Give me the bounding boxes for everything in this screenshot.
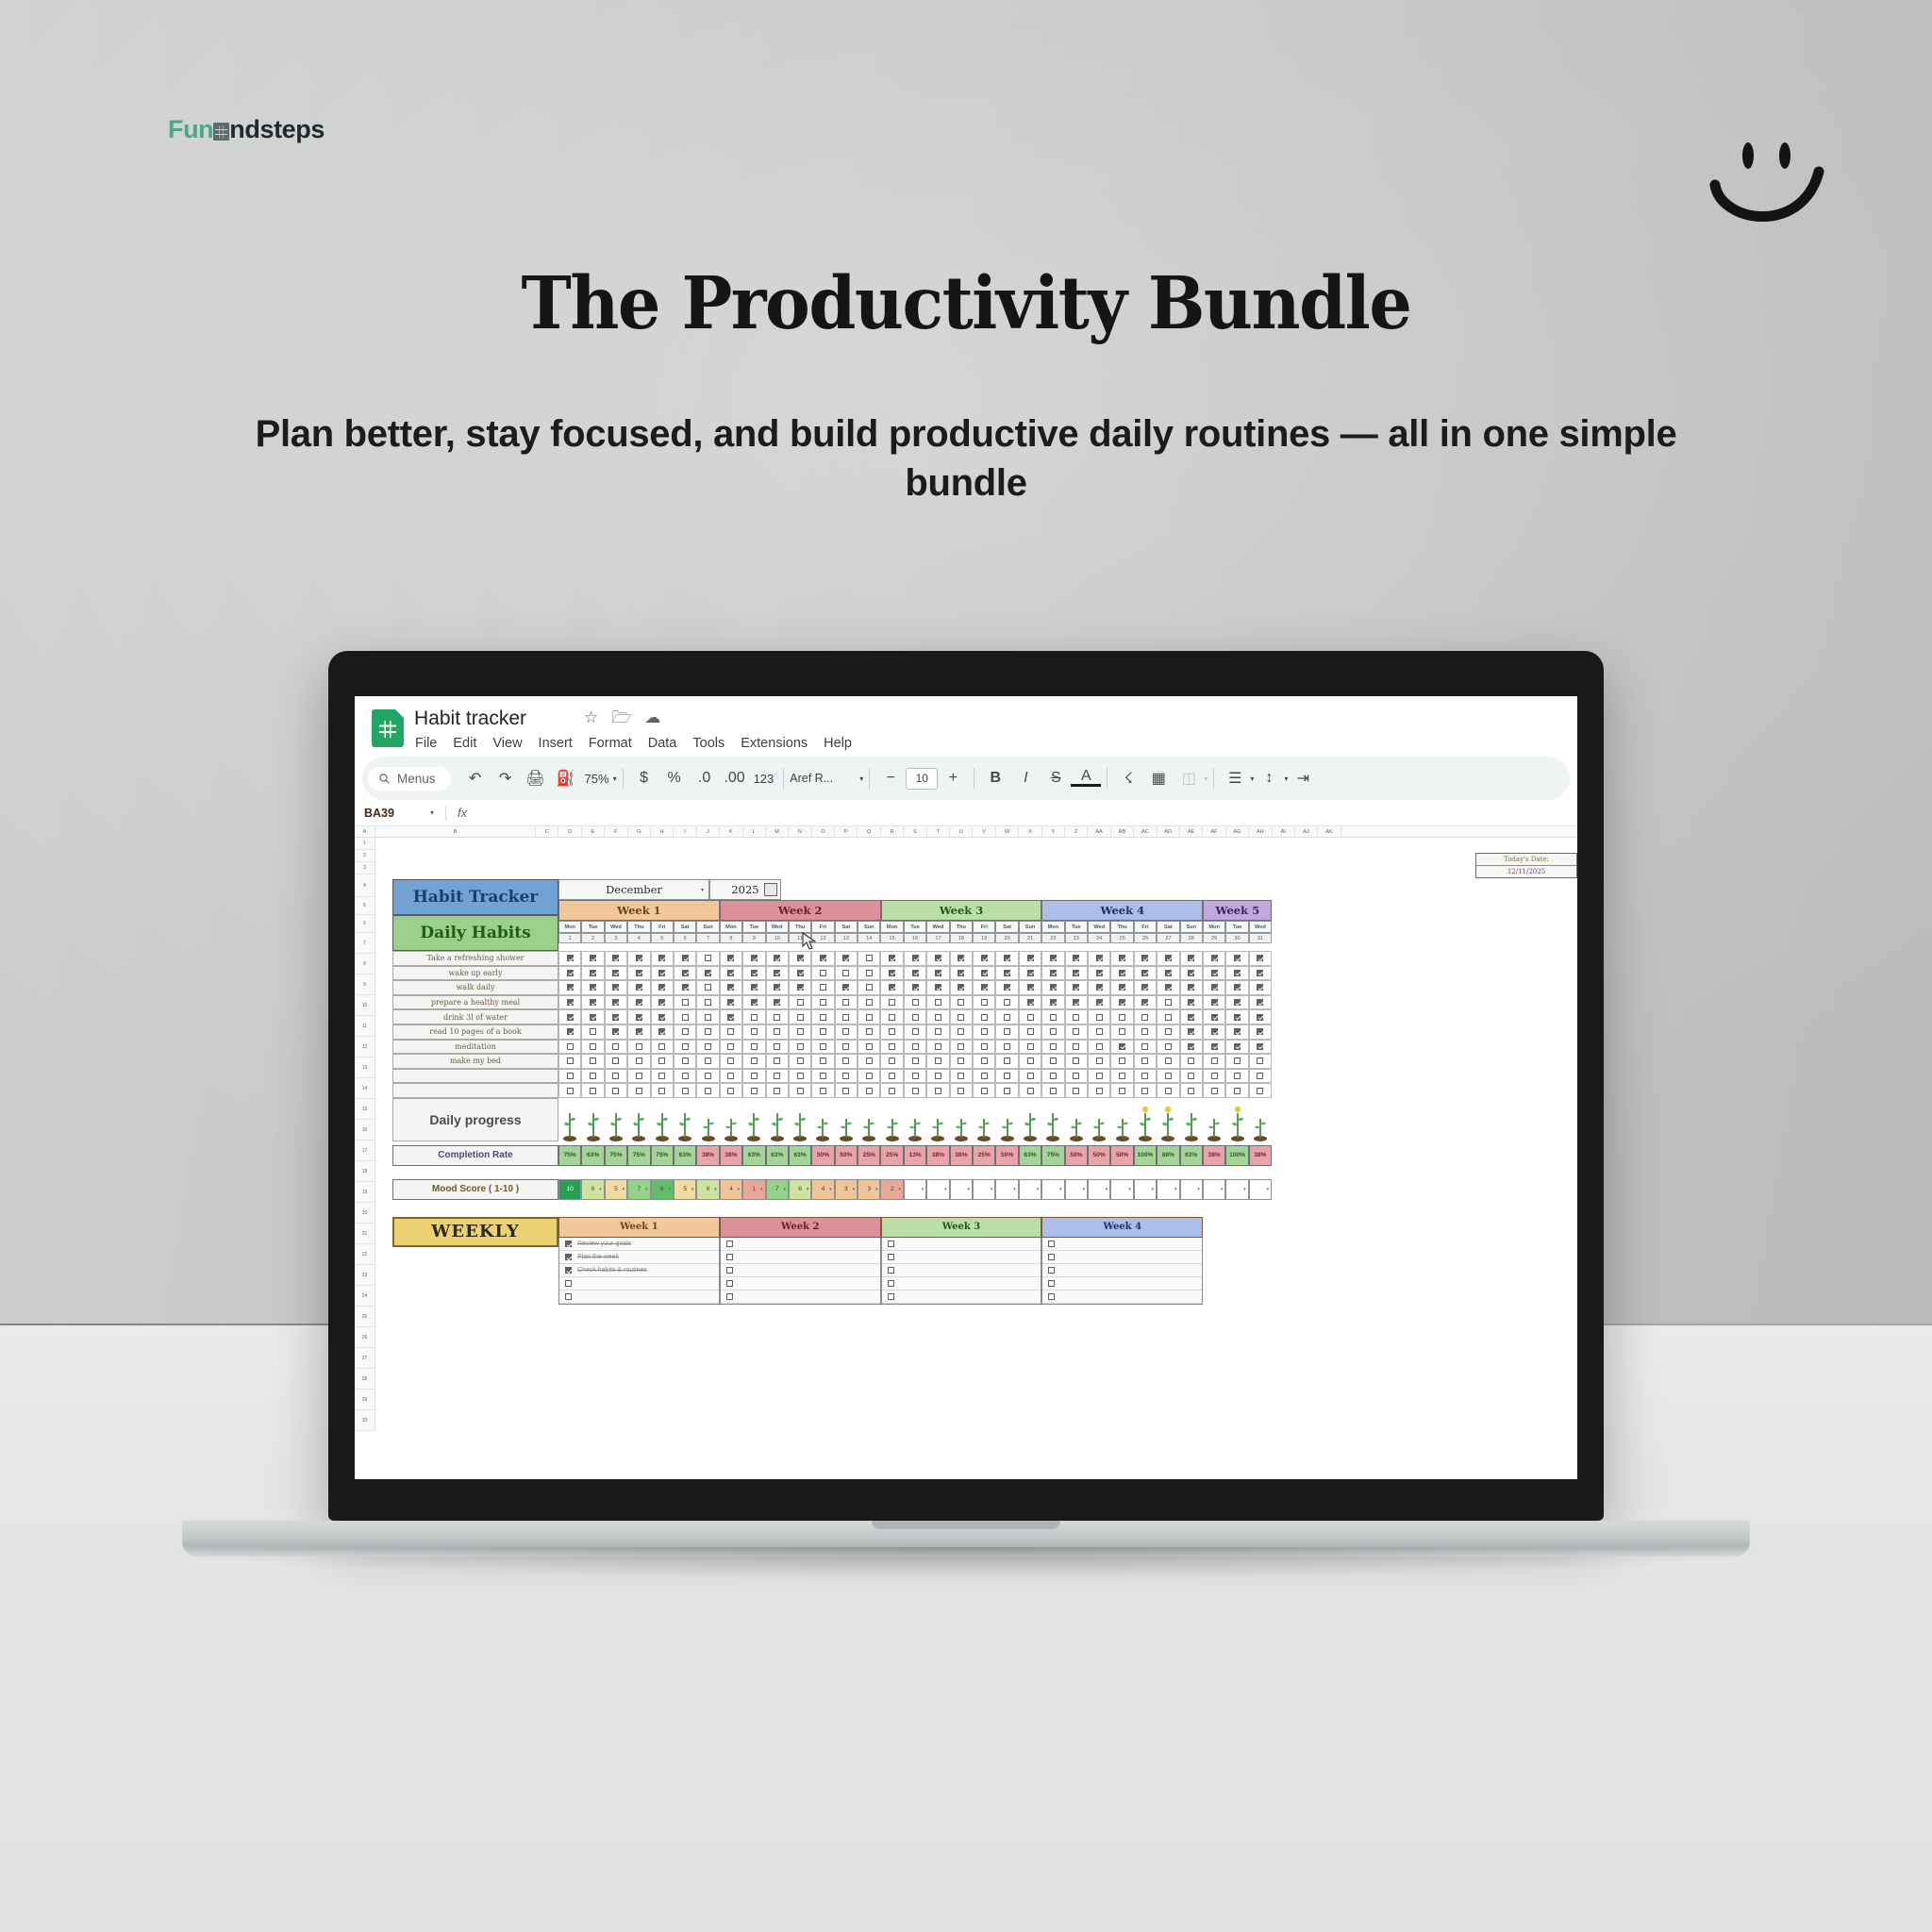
mood-chevron-down-icon[interactable]: ▾ (668, 1187, 671, 1192)
habit-check-cell[interactable] (904, 1024, 926, 1040)
habit-check-cell[interactable] (880, 1009, 903, 1024)
habit-check-cell[interactable] (1225, 966, 1248, 981)
habit-name[interactable] (392, 1069, 558, 1084)
bold-button[interactable]: B (980, 770, 1010, 787)
cell-reference-input[interactable]: BA39 (355, 807, 430, 820)
habit-check-cell[interactable] (880, 1069, 903, 1084)
habit-check-cell[interactable] (789, 1054, 811, 1069)
habit-check-cell[interactable] (605, 995, 627, 1010)
column-header[interactable]: AG (1226, 826, 1249, 837)
checkbox-icon[interactable] (1073, 984, 1079, 991)
currency-format-button[interactable]: $ (629, 770, 659, 787)
mood-score-cell[interactable]: ▾ (1134, 1179, 1157, 1200)
habit-check-cell[interactable] (1041, 1083, 1064, 1098)
mood-chevron-down-icon[interactable]: ▾ (1059, 1187, 1062, 1192)
checkbox-icon[interactable] (981, 999, 988, 1006)
zoom-level[interactable]: 75% (581, 772, 613, 786)
row-header[interactable]: 5 (355, 897, 375, 915)
checkbox-icon[interactable] (1257, 1088, 1263, 1094)
habit-check-cell[interactable] (696, 1083, 719, 1098)
checkbox-icon[interactable] (1188, 1028, 1194, 1035)
checkbox-icon[interactable] (842, 970, 849, 976)
increase-decimal-button[interactable]: .00 (720, 770, 750, 787)
checkbox-icon[interactable] (1004, 1073, 1010, 1079)
mood-chevron-down-icon[interactable]: ▾ (898, 1187, 901, 1192)
checkbox-icon[interactable] (981, 984, 988, 991)
checkbox-icon[interactable] (981, 1014, 988, 1021)
habit-check-cell[interactable] (674, 951, 696, 966)
habit-check-cell[interactable] (1180, 1054, 1203, 1069)
mood-chevron-down-icon[interactable]: ▾ (944, 1187, 947, 1192)
column-header[interactable]: AI (1273, 826, 1295, 837)
menu-format[interactable]: Format (589, 736, 632, 751)
checkbox-icon[interactable] (1211, 1028, 1218, 1035)
merge-chevron-down-icon[interactable]: ▾ (1204, 774, 1207, 783)
checkbox-icon[interactable] (1257, 970, 1263, 976)
checkbox-icon[interactable] (612, 1043, 619, 1050)
habit-check-cell[interactable] (1157, 980, 1179, 995)
checkbox-icon[interactable] (981, 1043, 988, 1050)
habit-check-cell[interactable] (973, 1024, 995, 1040)
habit-check-cell[interactable] (1088, 995, 1110, 1010)
habit-check-cell[interactable] (651, 1009, 674, 1024)
checkbox-icon[interactable] (981, 1073, 988, 1079)
mood-chevron-down-icon[interactable]: ▾ (576, 1187, 579, 1192)
habit-check-cell[interactable] (973, 1009, 995, 1024)
mood-chevron-down-icon[interactable]: ▾ (1243, 1187, 1246, 1192)
habit-check-cell[interactable] (995, 1083, 1018, 1098)
checkbox-icon[interactable] (612, 1058, 619, 1064)
habit-check-cell[interactable] (696, 1040, 719, 1055)
checkbox-icon[interactable] (1234, 984, 1241, 991)
checkbox-icon[interactable] (590, 1028, 596, 1035)
text-color-button[interactable]: A (1071, 770, 1101, 786)
checkbox-icon[interactable] (1119, 970, 1125, 976)
habit-check-cell[interactable] (558, 1054, 581, 1069)
row-header[interactable]: 24 (355, 1286, 375, 1307)
habit-check-cell[interactable] (1249, 1083, 1272, 1098)
habit-check-cell[interactable] (1249, 1024, 1272, 1040)
checkbox-icon[interactable] (658, 1088, 665, 1094)
habit-check-cell[interactable] (1157, 1040, 1179, 1055)
checkbox-icon[interactable] (658, 1058, 665, 1064)
row-header[interactable]: 13 (355, 1058, 375, 1078)
habit-check-cell[interactable] (926, 951, 949, 966)
checkbox-icon[interactable] (1119, 1028, 1125, 1035)
checkbox-icon[interactable] (751, 1058, 758, 1064)
habit-check-cell[interactable] (627, 1069, 650, 1084)
row-header[interactable]: 8 (355, 954, 375, 974)
mood-score-cell[interactable]: ▾ (1110, 1179, 1133, 1200)
mood-score-cell[interactable]: ▾ (950, 1179, 973, 1200)
checkbox-icon[interactable] (636, 1088, 642, 1094)
habit-check-cell[interactable] (1019, 1040, 1041, 1055)
habit-check-cell[interactable] (1110, 966, 1133, 981)
font-size-input[interactable]: 10 (906, 768, 938, 790)
habit-check-cell[interactable] (1019, 980, 1041, 995)
undo-icon[interactable]: ↶ (460, 769, 491, 788)
checkbox-icon[interactable] (1211, 1058, 1218, 1064)
mood-chevron-down-icon[interactable]: ▾ (1152, 1187, 1155, 1192)
weekly-list-item[interactable] (559, 1291, 719, 1304)
habit-check-cell[interactable] (720, 1040, 742, 1055)
checkbox-icon[interactable] (636, 1058, 642, 1064)
habit-check-cell[interactable] (1157, 966, 1179, 981)
habit-check-cell[interactable] (1110, 995, 1133, 1010)
habit-check-cell[interactable] (1157, 1009, 1179, 1024)
checkbox-icon[interactable] (842, 984, 849, 991)
checkbox-icon[interactable] (820, 1014, 826, 1021)
habit-check-cell[interactable] (995, 966, 1018, 981)
habit-check-cell[interactable] (720, 966, 742, 981)
habit-check-cell[interactable] (926, 1009, 949, 1024)
row-header[interactable]: 15 (355, 1099, 375, 1120)
column-header[interactable]: AJ (1295, 826, 1318, 837)
checkbox-icon[interactable] (1050, 1043, 1057, 1050)
checkbox-icon[interactable] (1141, 1073, 1148, 1079)
habit-check-cell[interactable] (1180, 1024, 1203, 1040)
weekly-list-item[interactable]: Review your goals (559, 1238, 719, 1251)
habit-check-cell[interactable] (581, 1024, 604, 1040)
checkbox-icon[interactable] (1027, 1014, 1034, 1021)
checkbox-icon[interactable] (935, 1014, 941, 1021)
row-header[interactable]: 16 (355, 1120, 375, 1141)
habit-check-cell[interactable] (1225, 1009, 1248, 1024)
habit-check-cell[interactable] (880, 1083, 903, 1098)
column-header[interactable]: AH (1249, 826, 1272, 837)
habit-check-cell[interactable] (720, 980, 742, 995)
checkbox-icon[interactable] (658, 955, 665, 961)
checkbox-icon[interactable] (1119, 955, 1125, 961)
checkbox-icon[interactable] (1165, 999, 1172, 1006)
checkbox-icon[interactable] (774, 999, 780, 1006)
column-header[interactable]: A (355, 826, 375, 837)
column-header[interactable]: P (835, 826, 858, 837)
habit-check-cell[interactable] (1065, 966, 1088, 981)
checkbox-icon[interactable] (866, 984, 873, 991)
checkbox-icon[interactable] (590, 1043, 596, 1050)
habit-check-cell[interactable] (651, 1054, 674, 1069)
checkbox-icon[interactable] (1234, 1073, 1241, 1079)
checkbox-icon[interactable] (1257, 999, 1263, 1006)
checkbox-icon[interactable] (567, 1088, 574, 1094)
checkbox-icon[interactable] (1211, 1088, 1218, 1094)
menu-edit[interactable]: Edit (453, 736, 476, 751)
checkbox-icon[interactable] (797, 984, 804, 991)
checkbox-icon[interactable] (705, 999, 711, 1006)
habit-check-cell[interactable] (1157, 951, 1179, 966)
checkbox-icon[interactable] (636, 1014, 642, 1021)
habit-check-cell[interactable] (835, 1054, 858, 1069)
column-header[interactable]: H (651, 826, 674, 837)
habit-check-cell[interactable] (1249, 1069, 1272, 1084)
checkbox-icon[interactable] (797, 1073, 804, 1079)
habit-check-cell[interactable] (904, 1009, 926, 1024)
menu-view[interactable]: View (492, 736, 522, 751)
habit-check-cell[interactable] (581, 1069, 604, 1084)
habit-check-cell[interactable] (858, 951, 880, 966)
habit-check-cell[interactable] (1203, 1083, 1225, 1098)
habit-check-cell[interactable] (558, 1024, 581, 1040)
checkbox-icon[interactable] (1027, 984, 1034, 991)
vertical-align-icon[interactable]: ↕ (1254, 770, 1284, 787)
column-header[interactable]: AC (1134, 826, 1157, 837)
horizontal-align-icon[interactable]: ☰ (1220, 769, 1250, 788)
row-header[interactable]: 11 (355, 1016, 375, 1037)
checkbox-icon[interactable] (912, 999, 919, 1006)
habit-check-cell[interactable] (720, 1083, 742, 1098)
habit-check-cell[interactable] (1110, 1040, 1133, 1055)
habit-check-cell[interactable] (1088, 1009, 1110, 1024)
menu-insert[interactable]: Insert (539, 736, 573, 751)
checkbox-icon[interactable] (1119, 1088, 1125, 1094)
row-header[interactable]: 27 (355, 1348, 375, 1369)
habit-check-cell[interactable] (835, 1069, 858, 1084)
checkbox-icon[interactable] (1050, 1058, 1057, 1064)
checkbox-icon[interactable] (1234, 970, 1241, 976)
checkbox-icon[interactable] (1048, 1280, 1055, 1287)
checkbox-icon[interactable] (727, 1028, 734, 1035)
checkbox-icon[interactable] (1096, 1073, 1103, 1079)
checkbox-icon[interactable] (1004, 955, 1010, 961)
column-header[interactable]: AD (1158, 826, 1180, 837)
mood-chevron-down-icon[interactable]: ▾ (1197, 1187, 1200, 1192)
mood-chevron-down-icon[interactable]: ▾ (1174, 1187, 1177, 1192)
habit-check-cell[interactable] (1110, 980, 1133, 995)
habit-check-cell[interactable] (950, 1009, 973, 1024)
checkbox-icon[interactable] (567, 1058, 574, 1064)
habit-check-cell[interactable] (766, 1009, 789, 1024)
row-header[interactable]: 20 (355, 1203, 375, 1224)
habit-check-cell[interactable] (1088, 1040, 1110, 1055)
checkbox-icon[interactable] (1141, 999, 1148, 1006)
checkbox-icon[interactable] (1165, 970, 1172, 976)
document-title[interactable]: Habit tracker (414, 708, 526, 730)
checkbox-icon[interactable] (751, 999, 758, 1006)
mood-score-cell[interactable]: 2▾ (880, 1179, 903, 1200)
checkbox-icon[interactable] (958, 999, 964, 1006)
checkbox-icon[interactable] (958, 1014, 964, 1021)
mood-chevron-down-icon[interactable]: ▾ (1221, 1187, 1224, 1192)
checkbox-icon[interactable] (590, 984, 596, 991)
checkbox-icon[interactable] (866, 1073, 873, 1079)
habit-check-cell[interactable] (674, 980, 696, 995)
checkbox-icon[interactable] (889, 1014, 895, 1021)
habit-check-cell[interactable] (1065, 1069, 1088, 1084)
checkbox-icon[interactable] (567, 1043, 574, 1050)
column-header[interactable]: AB (1111, 826, 1134, 837)
habit-check-cell[interactable] (858, 1083, 880, 1098)
habit-check-cell[interactable] (627, 1054, 650, 1069)
habit-check-cell[interactable] (558, 1009, 581, 1024)
habit-check-cell[interactable] (811, 1040, 834, 1055)
habit-check-cell[interactable] (558, 995, 581, 1010)
checkbox-icon[interactable] (1141, 984, 1148, 991)
habit-check-cell[interactable] (973, 1054, 995, 1069)
paint-format-icon[interactable]: ⛽ (551, 769, 581, 788)
column-header[interactable]: N (789, 826, 811, 837)
habit-check-cell[interactable] (581, 995, 604, 1010)
habit-check-cell[interactable] (835, 966, 858, 981)
habit-check-cell[interactable] (1134, 995, 1157, 1010)
checkbox-icon[interactable] (820, 1058, 826, 1064)
checkbox-icon[interactable] (889, 984, 895, 991)
mood-chevron-down-icon[interactable]: ▾ (623, 1187, 625, 1192)
mood-score-cell[interactable]: ▾ (1065, 1179, 1088, 1200)
checkbox-icon[interactable] (726, 1241, 733, 1247)
habit-check-cell[interactable] (558, 1083, 581, 1098)
checkbox-icon[interactable] (1165, 955, 1172, 961)
checkbox-icon[interactable] (774, 1043, 780, 1050)
habit-check-cell[interactable] (1157, 1024, 1179, 1040)
checkbox-icon[interactable] (1257, 1058, 1263, 1064)
checkbox-icon[interactable] (590, 955, 596, 961)
checkbox-icon[interactable] (935, 984, 941, 991)
row-header[interactable]: 29 (355, 1390, 375, 1410)
weekly-list-item[interactable] (721, 1264, 880, 1277)
habit-check-cell[interactable] (627, 980, 650, 995)
habit-check-cell[interactable] (1041, 980, 1064, 995)
habit-check-cell[interactable] (858, 1009, 880, 1024)
habit-check-cell[interactable] (973, 951, 995, 966)
checkbox-icon[interactable] (842, 999, 849, 1006)
checkbox-icon[interactable] (935, 1058, 941, 1064)
checkbox-icon[interactable] (1004, 970, 1010, 976)
checkbox-icon[interactable] (820, 984, 826, 991)
checkbox-icon[interactable] (820, 1028, 826, 1035)
habit-check-cell[interactable] (1157, 995, 1179, 1010)
checkbox-icon[interactable] (727, 1014, 734, 1021)
habit-check-cell[interactable] (1065, 980, 1088, 995)
habit-check-cell[interactable] (789, 995, 811, 1010)
habit-check-cell[interactable] (1249, 1040, 1272, 1055)
habit-check-cell[interactable] (1065, 951, 1088, 966)
weekly-list-item[interactable] (1042, 1238, 1202, 1251)
habit-check-cell[interactable] (1019, 1083, 1041, 1098)
habit-check-cell[interactable] (674, 1054, 696, 1069)
mood-score-cell[interactable]: ▾ (1041, 1179, 1064, 1200)
checkbox-icon[interactable] (727, 970, 734, 976)
habit-check-cell[interactable] (1249, 995, 1272, 1010)
habit-check-cell[interactable] (581, 1083, 604, 1098)
checkbox-icon[interactable] (1027, 1073, 1034, 1079)
checkbox-icon[interactable] (1048, 1293, 1055, 1300)
checkbox-icon[interactable] (842, 1073, 849, 1079)
checkbox-icon[interactable] (866, 1028, 873, 1035)
checkbox-icon[interactable] (889, 955, 895, 961)
checkbox-icon[interactable] (981, 970, 988, 976)
weekly-list-item[interactable] (882, 1251, 1041, 1264)
habit-check-cell[interactable] (811, 951, 834, 966)
checkbox-icon[interactable] (1188, 1073, 1194, 1079)
checkbox-icon[interactable] (636, 999, 642, 1006)
checkbox-icon[interactable] (820, 970, 826, 976)
habit-check-cell[interactable] (742, 1009, 765, 1024)
checkbox-icon[interactable] (1073, 1073, 1079, 1079)
checkbox-icon[interactable] (774, 984, 780, 991)
habit-check-cell[interactable] (696, 951, 719, 966)
checkbox-icon[interactable] (1188, 1014, 1194, 1021)
mood-score-cell[interactable]: 4▾ (720, 1179, 742, 1200)
row-header[interactable]: 22 (355, 1244, 375, 1265)
checkbox-icon[interactable] (1027, 1028, 1034, 1035)
habit-check-cell[interactable] (1157, 1054, 1179, 1069)
mood-score-cell[interactable]: ▾ (1019, 1179, 1041, 1200)
mood-score-cell[interactable]: ▾ (1225, 1179, 1248, 1200)
checkbox-icon[interactable] (1048, 1254, 1055, 1260)
habit-check-cell[interactable] (766, 1069, 789, 1084)
mood-score-cell[interactable]: ▾ (1088, 1179, 1110, 1200)
checkbox-icon[interactable] (912, 1073, 919, 1079)
mood-chevron-down-icon[interactable]: ▾ (691, 1187, 694, 1192)
checkbox-icon[interactable] (1234, 1058, 1241, 1064)
habit-check-cell[interactable] (674, 995, 696, 1010)
checkbox-icon[interactable] (727, 1043, 734, 1050)
weekly-list-item[interactable] (1042, 1264, 1202, 1277)
habit-check-cell[interactable] (950, 1083, 973, 1098)
habit-check-cell[interactable] (1225, 1024, 1248, 1040)
checkbox-icon[interactable] (1096, 984, 1103, 991)
habit-check-cell[interactable] (1203, 995, 1225, 1010)
cloud-saved-icon[interactable]: ☁ (644, 709, 660, 725)
checkbox-icon[interactable] (565, 1293, 572, 1300)
mood-chevron-down-icon[interactable]: ▾ (599, 1187, 602, 1192)
checkbox-icon[interactable] (727, 984, 734, 991)
mood-score-cell[interactable]: ▾ (1180, 1179, 1203, 1200)
row-header[interactable]: 2 (355, 850, 375, 862)
checkbox-icon[interactable] (1073, 1058, 1079, 1064)
mood-chevron-down-icon[interactable]: ▾ (783, 1187, 786, 1192)
habit-check-cell[interactable] (581, 1040, 604, 1055)
checkbox-icon[interactable] (751, 970, 758, 976)
habit-check-cell[interactable] (811, 1083, 834, 1098)
habit-check-cell[interactable] (1180, 1083, 1203, 1098)
habit-check-cell[interactable] (1134, 1024, 1157, 1040)
checkbox-icon[interactable] (1119, 1058, 1125, 1064)
mood-chevron-down-icon[interactable]: ▾ (968, 1187, 971, 1192)
habit-check-cell[interactable] (605, 951, 627, 966)
checkbox-icon[interactable] (705, 955, 711, 961)
checkbox-icon[interactable] (1165, 1028, 1172, 1035)
mood-chevron-down-icon[interactable]: ▾ (807, 1187, 809, 1192)
mood-score-cell[interactable]: ▾ (926, 1179, 949, 1200)
checkbox-icon[interactable] (1004, 1058, 1010, 1064)
habit-check-cell[interactable] (651, 1024, 674, 1040)
habit-check-cell[interactable] (1180, 1009, 1203, 1024)
checkbox-icon[interactable] (912, 1088, 919, 1094)
checkbox-icon[interactable] (726, 1293, 733, 1300)
checkbox-icon[interactable] (590, 970, 596, 976)
checkbox-icon[interactable] (958, 1073, 964, 1079)
habit-check-cell[interactable] (627, 966, 650, 981)
habit-check-cell[interactable] (926, 1040, 949, 1055)
habit-check-cell[interactable] (904, 980, 926, 995)
checkbox-icon[interactable] (658, 984, 665, 991)
checkbox-icon[interactable] (705, 1043, 711, 1050)
habit-check-cell[interactable] (627, 1009, 650, 1024)
habit-check-cell[interactable] (835, 1009, 858, 1024)
print-icon[interactable]: 🖨 (521, 769, 551, 788)
checkbox-icon[interactable] (889, 970, 895, 976)
habit-check-cell[interactable] (605, 966, 627, 981)
habit-check-cell[interactable] (926, 995, 949, 1010)
checkbox-icon[interactable] (636, 1043, 642, 1050)
weekly-list-item[interactable]: Check habits & routines (559, 1264, 719, 1277)
checkbox-icon[interactable] (842, 1014, 849, 1021)
checkbox-icon[interactable] (889, 1043, 895, 1050)
habit-check-cell[interactable] (1225, 1069, 1248, 1084)
habit-check-cell[interactable] (880, 1024, 903, 1040)
